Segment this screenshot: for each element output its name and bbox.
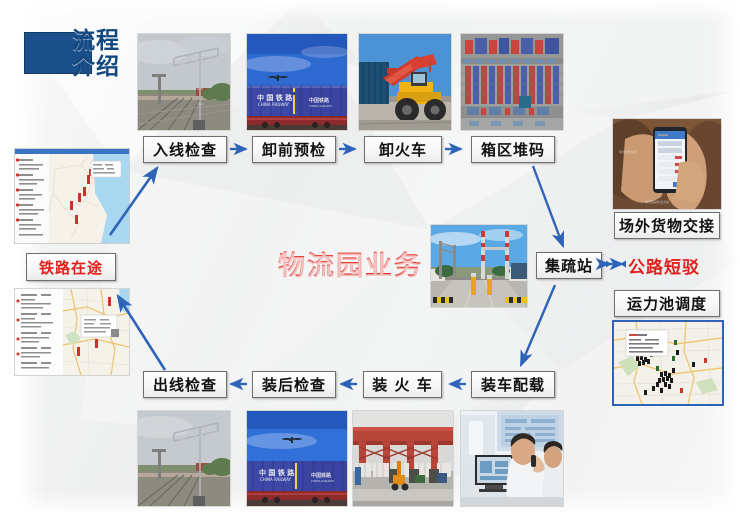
top-step-4-box[interactable]: 箱区堆码	[471, 136, 555, 163]
bottom-step-2-label: 装后检查	[262, 374, 326, 395]
bottom-step-2-box[interactable]: 装后检查	[252, 371, 336, 398]
hub-station-box[interactable]: 集疏站	[536, 252, 602, 279]
bottom-step-1-box[interactable]: 出线检查	[143, 371, 227, 398]
gate-checkpoint-photo	[430, 224, 528, 308]
svg-text:CHINA RAILWAY: CHINA RAILWAY	[260, 477, 292, 482]
hub-station-label: 集疏站	[545, 255, 593, 276]
bottom-step-4-box[interactable]: 装车配载	[471, 371, 555, 398]
center-title: 物流园业务	[278, 244, 423, 283]
svg-text:中国铁路: 中国铁路	[309, 97, 330, 104]
rail-in-transit-text: 铁路在途	[39, 257, 103, 278]
svg-text:CHINA RAILWAY: CHINA RAILWAY	[258, 102, 290, 107]
offsite-handover-box[interactable]: 场外货物交接	[614, 212, 720, 239]
bottom-step-3-box[interactable]: 装 火 车	[363, 371, 442, 398]
bottom-step-4-label: 装车配载	[481, 374, 545, 395]
right-fade	[700, 0, 740, 515]
svg-text:场外货物交接: 场外货物交接	[619, 149, 637, 154]
bottom-step-3-label: 装 火 车	[372, 374, 432, 395]
control-room-operators-photo	[460, 410, 564, 507]
svg-text:中 国 铁 路: 中 国 铁 路	[257, 93, 293, 102]
title-line-1: 流程	[72, 28, 146, 54]
china-railway-loaded-containers-photo: 中 国 铁 路 CHINA RAILWAY 中国铁路 CHINA RAILWAY	[246, 410, 348, 507]
top-step-3-label: 卸火车	[379, 139, 427, 160]
svg-text:中国铁路: 中国铁路	[311, 472, 332, 479]
svg-text:CHINA RAILWAY: CHINA RAILWAY	[311, 479, 334, 483]
road-shuttle-text: 公路短驳	[628, 258, 700, 278]
top-step-2-box[interactable]: 卸前预检	[252, 136, 336, 163]
china-railway-containers-drone-photo: 中 国 铁 路 CHINA RAILWAY 中国铁路 CHINA RAILWAY	[246, 33, 348, 131]
mobile-app-handover-photo: 场外货物交接物流运输作业系统	[612, 118, 722, 210]
red-gantry-crane-forklift-photo	[352, 410, 454, 507]
top-step-2-label: 卸前预检	[262, 139, 326, 160]
rail-in-transit-label[interactable]: 铁路在途	[26, 253, 116, 281]
slide-canvas: 流程 介绍	[0, 0, 740, 515]
title-text: 流程 介绍	[72, 28, 146, 80]
regional-rail-tracking-map	[14, 288, 130, 376]
offsite-handover-label: 场外货物交接	[619, 215, 715, 236]
container-yard-stacking-screen-photo	[460, 33, 564, 131]
railway-gantry-outbound-photo	[137, 410, 231, 507]
capacity-pool-dispatch-label: 运力池调度	[627, 293, 707, 314]
svg-text:CHINA RAILWAY: CHINA RAILWAY	[309, 104, 332, 108]
china-rail-tracking-map	[14, 148, 130, 244]
bottom-step-1-label: 出线检查	[153, 374, 217, 395]
top-fade	[0, 0, 740, 22]
slide-title: 流程 介绍	[24, 28, 144, 100]
top-step-3-box[interactable]: 卸火车	[364, 136, 442, 163]
svg-text:中 国 铁 路: 中 国 铁 路	[259, 468, 295, 477]
reach-stacker-unloading-photo: 中国铁路	[358, 33, 452, 131]
railway-gantry-inspection-photo	[137, 33, 231, 131]
svg-text:物流运输作业系统: 物流运输作业系统	[645, 199, 669, 204]
top-step-1-label: 入线检查	[153, 139, 217, 160]
svg-text:中国铁路: 中国铁路	[393, 73, 409, 79]
top-step-4-label: 箱区堆码	[481, 139, 545, 160]
capacity-pool-dispatch-box[interactable]: 运力池调度	[614, 290, 720, 317]
top-step-1-box[interactable]: 入线检查	[143, 136, 227, 163]
fleet-dispatch-map	[612, 320, 724, 406]
title-line-2: 介绍	[72, 54, 146, 80]
road-shuttle-label[interactable]: 公路短驳	[628, 253, 700, 278]
